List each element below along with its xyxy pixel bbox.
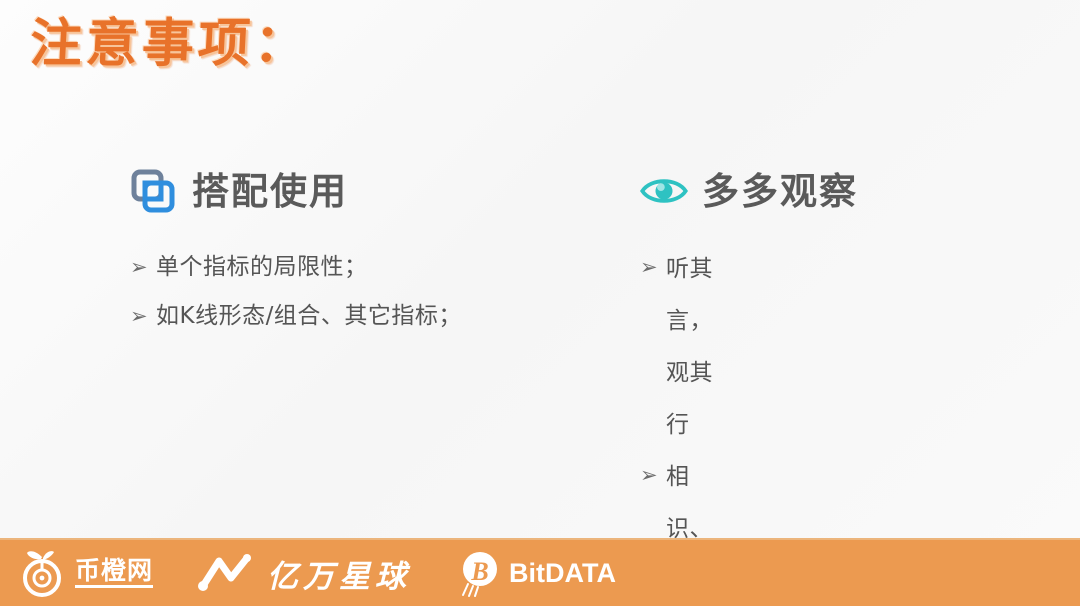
bitcoin-b-icon: B — [457, 549, 503, 597]
bullet-arrow-icon: ➢ — [640, 451, 666, 500]
brand-yiwanxingqiu-name: 亿万星球 — [267, 551, 411, 596]
page-title: 注意事项： — [30, 18, 310, 70]
page-title-text: 注意事项： — [29, 18, 312, 70]
column-observation-heading: 多多观察 — [702, 173, 858, 210]
brand-yiwanxingqiu: 亿万星球 — [197, 540, 411, 606]
brand-bichengwang-name: 币橙网 — [75, 558, 153, 588]
list-item-text: 听其言，观其行 — [666, 243, 713, 451]
brand-bitdata: B BitDATA — [457, 540, 616, 606]
footer-bar: 币橙网 亿万星球 B — [0, 540, 1080, 606]
svg-text:B: B — [470, 557, 488, 586]
orange-fruit-icon — [16, 547, 68, 599]
brand-bichengwang: 币橙网 — [16, 540, 153, 606]
zigzag-n-icon — [197, 552, 255, 594]
bullet-arrow-icon: ➢ — [640, 243, 666, 292]
slide-root: 注意事项： 搭配使用 ➢ 单个指标的局限性； — [0, 0, 1080, 606]
brand-bitdata-name: BitDATA — [509, 558, 616, 589]
eye-icon — [640, 169, 688, 213]
